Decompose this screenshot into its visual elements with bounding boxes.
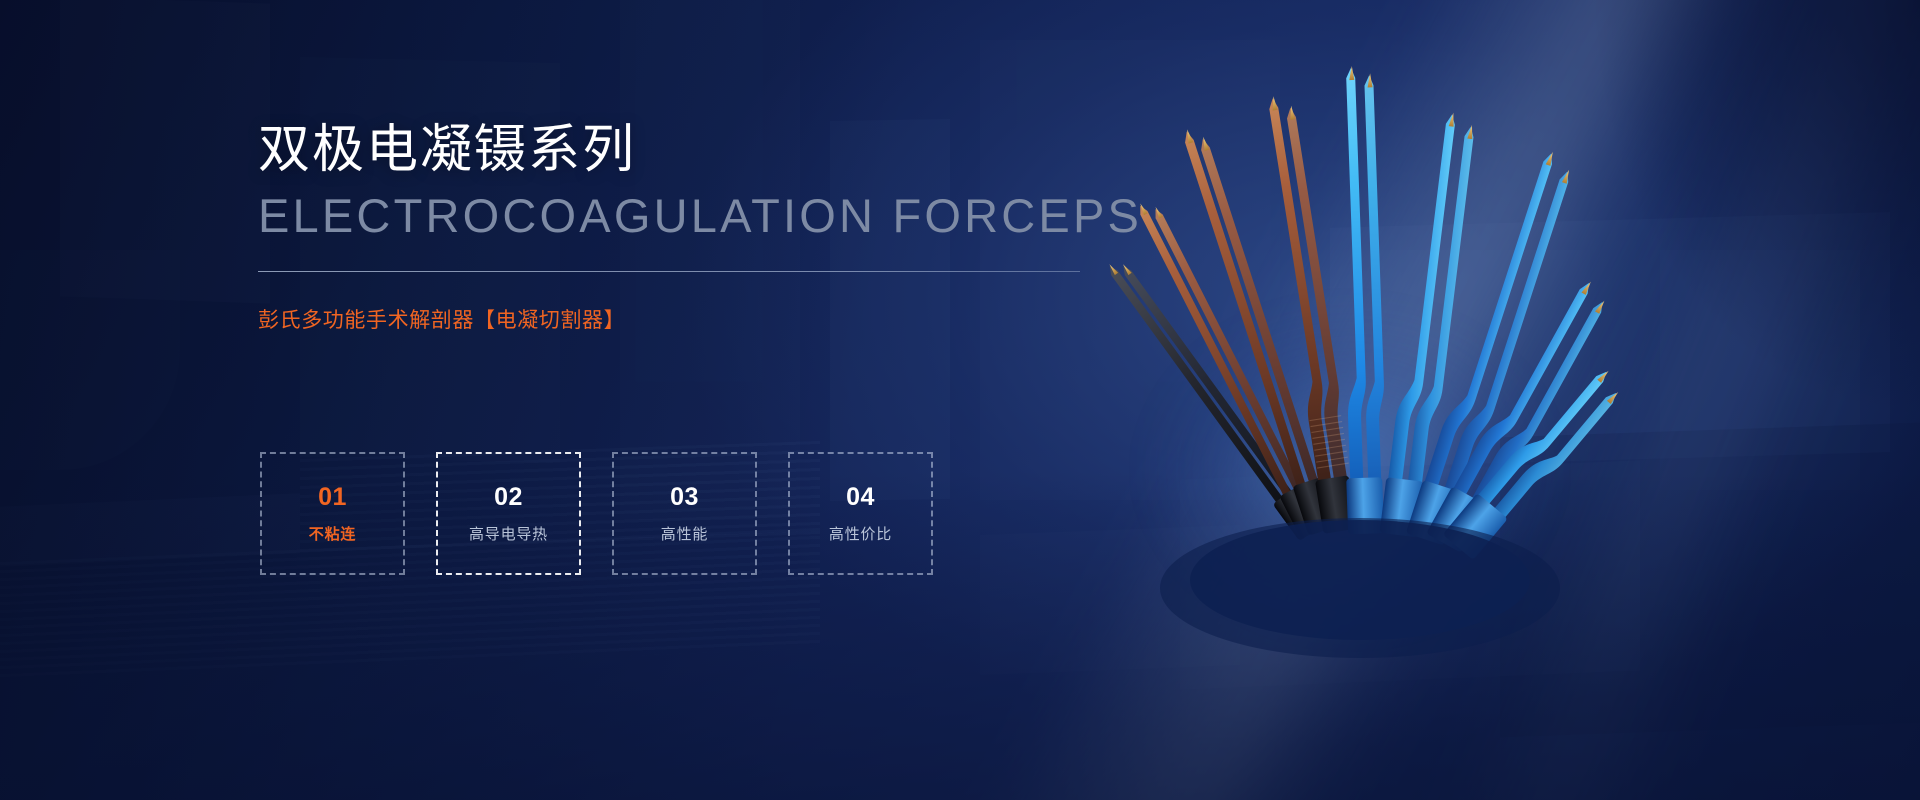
feature-number: 02 — [494, 485, 523, 510]
feature-number: 01 — [318, 485, 347, 510]
feature-label: 高性能 — [661, 527, 708, 542]
divider — [258, 271, 1080, 272]
feature-card-01[interactable]: 01 不粘连 — [260, 452, 405, 575]
feature-card-03[interactable]: 03 高性能 — [612, 452, 757, 575]
product-banner: 双极电凝镊系列 ELECTROCOAGULATION FORCEPS 彭氏多功能… — [0, 0, 1920, 800]
feature-card-02[interactable]: 02 高导电导热 — [436, 452, 581, 575]
product-tagline: 彭氏多功能手术解剖器【电凝切割器】 — [258, 304, 1098, 334]
page-title: 双极电凝镊系列 — [258, 120, 1098, 181]
product-image — [1030, 60, 1590, 620]
feature-number: 04 — [846, 485, 875, 510]
page-subtitle-en: ELECTROCOAGULATION FORCEPS — [258, 189, 1098, 243]
feature-list: 01 不粘连 02 高导电导热 03 高性能 04 高性价比 — [260, 452, 933, 575]
feature-card-04[interactable]: 04 高性价比 — [788, 452, 933, 575]
feature-label: 高导电导热 — [469, 527, 548, 542]
feature-label: 高性价比 — [829, 527, 892, 542]
feature-label: 不粘连 — [309, 527, 356, 542]
feature-number: 03 — [670, 485, 699, 510]
headline-block: 双极电凝镊系列 ELECTROCOAGULATION FORCEPS 彭氏多功能… — [258, 120, 1098, 334]
